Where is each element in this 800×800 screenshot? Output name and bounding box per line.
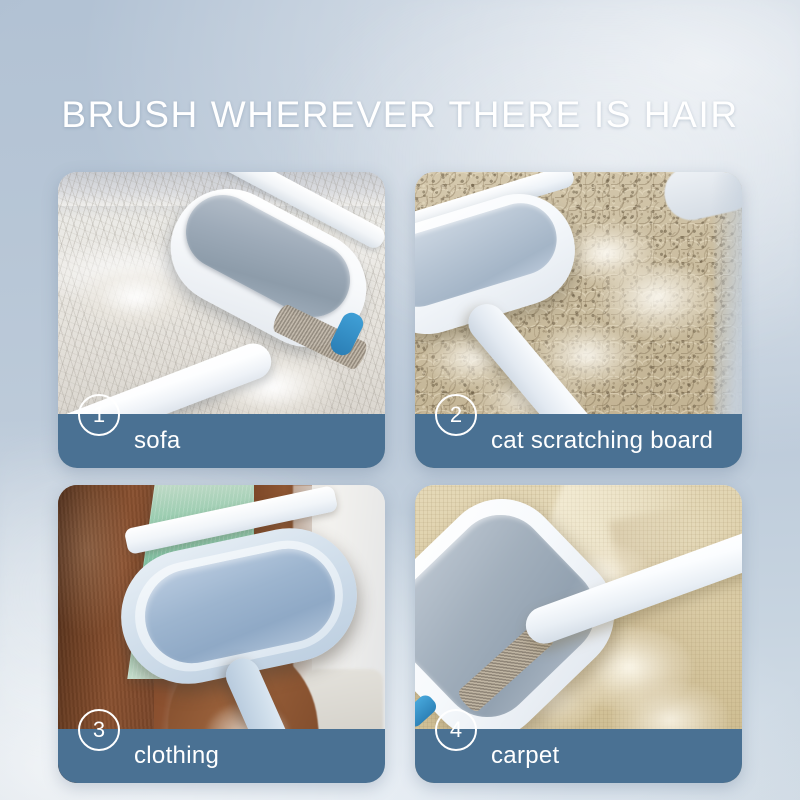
scenario-card-clothing[interactable]: clothing 3 — [58, 485, 385, 783]
badge-number: 2 — [450, 404, 462, 426]
poster-headline: BRUSH WHEREVER THERE IS HAIR — [0, 92, 800, 138]
caption-label-clothing: clothing — [134, 742, 219, 770]
scenario-card-cat-scratching-board[interactable]: cat scratching board 2 — [415, 172, 742, 468]
caption-label-sofa: sofa — [134, 427, 181, 455]
scenario-card-sofa[interactable]: sofa 1 — [58, 172, 385, 468]
caption-label-carpet: carpet — [491, 742, 560, 770]
circled-number-icon: 2 — [435, 394, 477, 436]
circled-number-icon: 4 — [435, 709, 477, 751]
product-infographic-poster: BRUSH WHEREVER THERE IS HAIR sofa — [0, 0, 800, 800]
badge-number: 4 — [450, 719, 462, 741]
badge-number: 3 — [93, 719, 105, 741]
usage-scenario-grid: sofa 1 — [58, 172, 742, 783]
caption-label-cat-scratching-board: cat scratching board — [491, 427, 713, 455]
circled-number-icon: 1 — [78, 394, 120, 436]
circled-number-icon: 3 — [78, 709, 120, 751]
badge-number: 1 — [93, 404, 105, 426]
scenario-card-carpet[interactable]: carpet 4 — [415, 485, 742, 783]
